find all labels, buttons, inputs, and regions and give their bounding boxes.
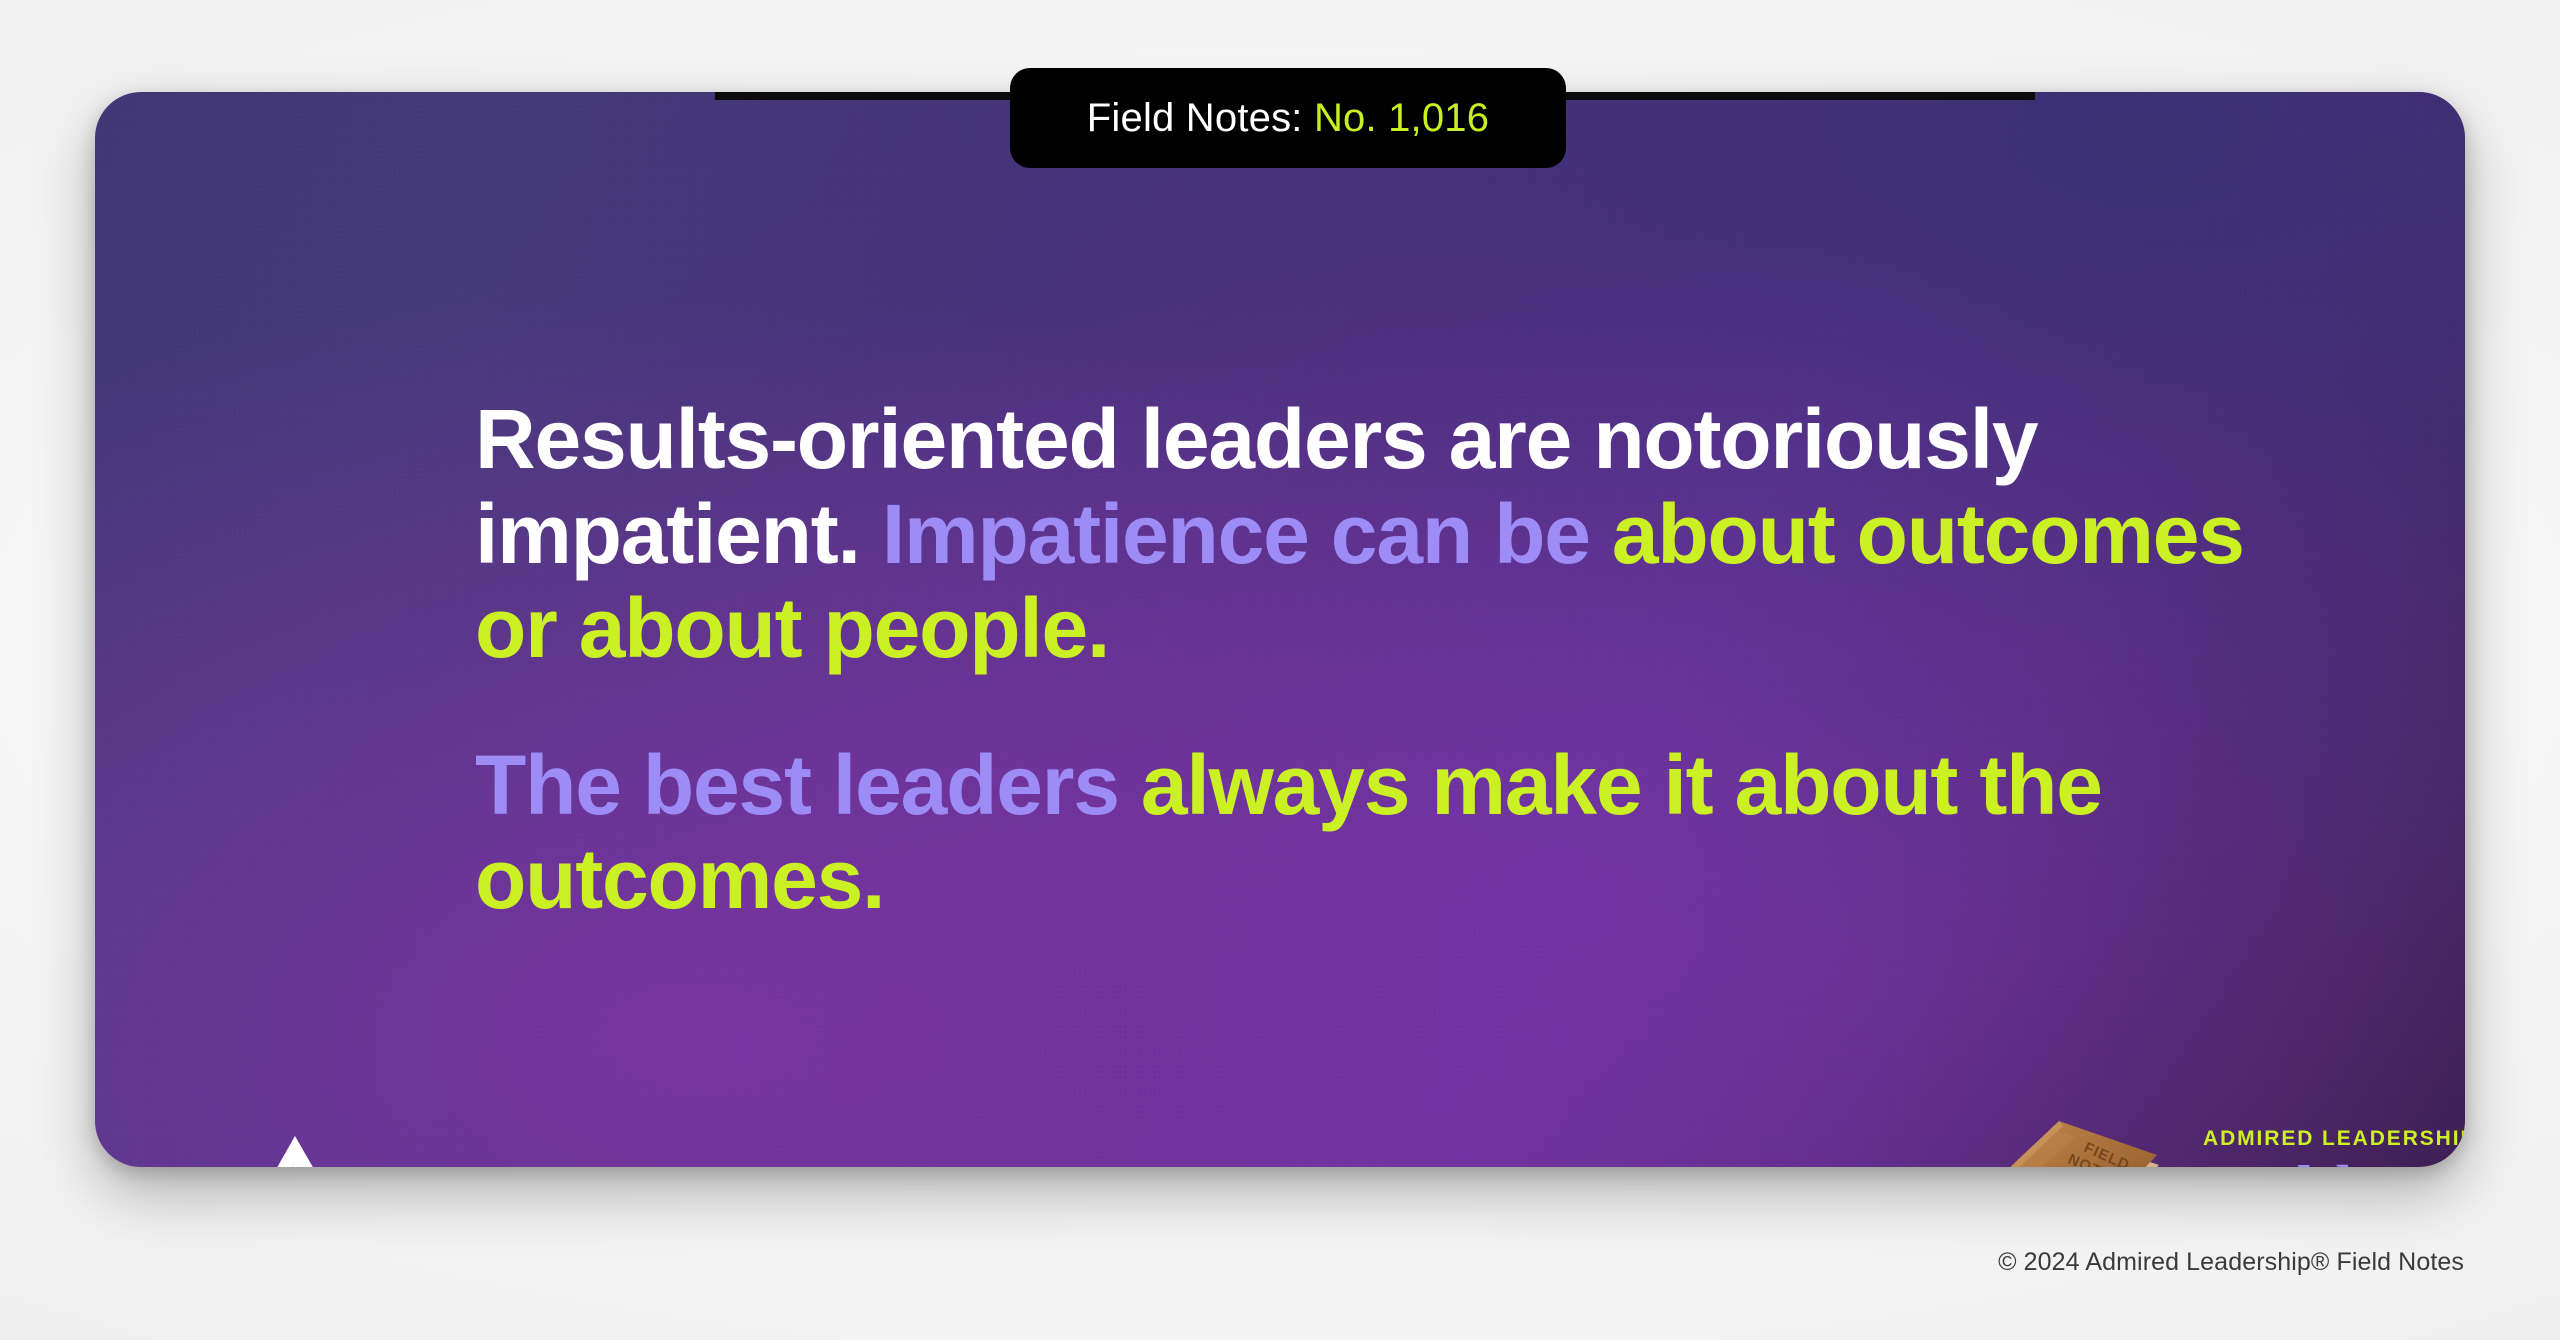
copyright-text: © 2024 Admired Leadership® Field Notes	[1998, 1248, 2464, 1277]
quote-segment-periwinkle: Impatience can be	[882, 487, 1612, 581]
brand-wordmark: Field Notes	[2203, 1155, 2465, 1167]
field-notes-card: Results-oriented leaders are notoriously…	[95, 92, 2465, 1167]
page-backdrop: Results-oriented leaders are notoriously…	[0, 0, 2560, 1340]
brand-kicker: ADMIRED LEADERSHIP®	[2203, 1127, 2465, 1151]
badge-label: Field Notes:	[1087, 96, 1303, 140]
field-notes-lockup: FIELD NOTES ADMIRED LEADERSHIP® Field No…	[1965, 1097, 2465, 1167]
quote-paragraph-2: The best leaders always make it about th…	[475, 738, 2325, 927]
field-notes-number-badge: Field Notes: No. 1,016	[1010, 68, 1566, 168]
quote-block: Results-oriented leaders are notoriously…	[475, 392, 2325, 927]
quote-paragraph-1: Results-oriented leaders are notoriously…	[475, 392, 2325, 676]
badge-number: No. 1,016	[1314, 96, 1489, 140]
badge-text: Field Notes: No. 1,016	[1087, 96, 1489, 141]
brand-text: ADMIRED LEADERSHIP® Field Notes	[2203, 1127, 2465, 1167]
admired-leadership-triangle-icon	[245, 1132, 345, 1167]
field-notes-book-icon: FIELD NOTES	[1965, 1105, 2185, 1167]
quote-segment-periwinkle: The best leaders	[475, 738, 1141, 832]
